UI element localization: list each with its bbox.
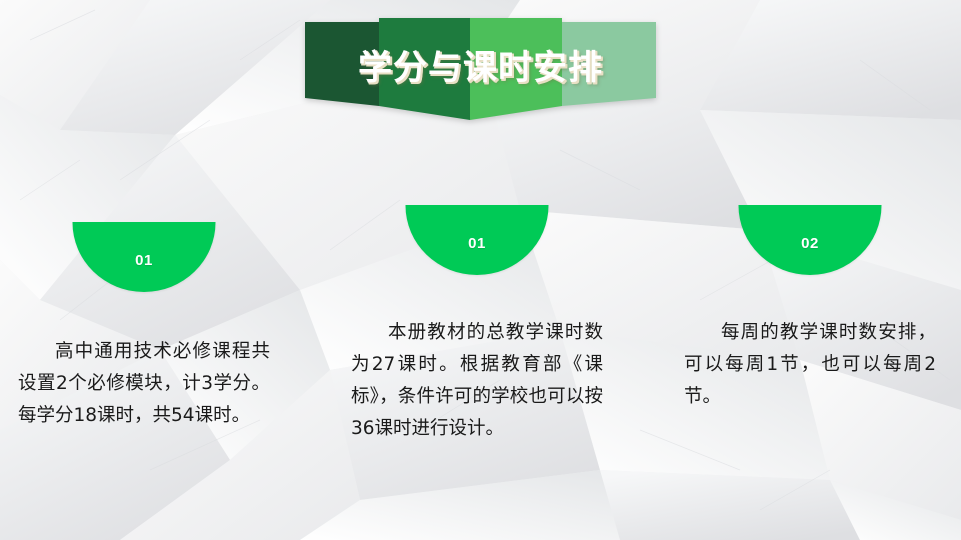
column-body-text-2: 本册教材的总教学课时数为27课时。根据教育部《课标》，条件许可的学校也可以按36… [347, 317, 607, 445]
badge-semicircle-3: 02 [739, 205, 882, 275]
badge-wrapper-1: 01 [14, 222, 274, 294]
slide-canvas: 学分与课时安排 01 高中通用技术必修课程共设置2个必修模块，计3学分。每学分1… [0, 0, 961, 540]
content-column-2: 01 本册教材的总教学课时数为27课时。根据教育部《课标》，条件许可的学校也可以… [347, 205, 607, 445]
badge-number-2: 01 [468, 235, 486, 252]
page-title: 学分与课时安排 [305, 18, 656, 110]
content-column-1: 01 高中通用技术必修课程共设置2个必修模块，计3学分。每学分18课时，共54课… [14, 222, 274, 432]
title-banner: 学分与课时安排 [305, 18, 656, 120]
column-body-text-1: 高中通用技术必修课程共设置2个必修模块，计3学分。每学分18课时，共54课时。 [14, 336, 274, 432]
badge-number-3: 02 [801, 235, 819, 252]
badge-semicircle-1: 01 [73, 222, 216, 292]
column-body-text-3: 每周的教学课时数安排，可以每周1节，也可以每周2节。 [680, 317, 940, 413]
badge-semicircle-2: 01 [406, 205, 549, 275]
badge-number-1: 01 [135, 252, 153, 269]
badge-wrapper-3: 02 [680, 205, 940, 277]
badge-wrapper-2: 01 [347, 205, 607, 277]
content-column-3: 02 每周的教学课时数安排，可以每周1节，也可以每周2节。 [680, 205, 940, 413]
